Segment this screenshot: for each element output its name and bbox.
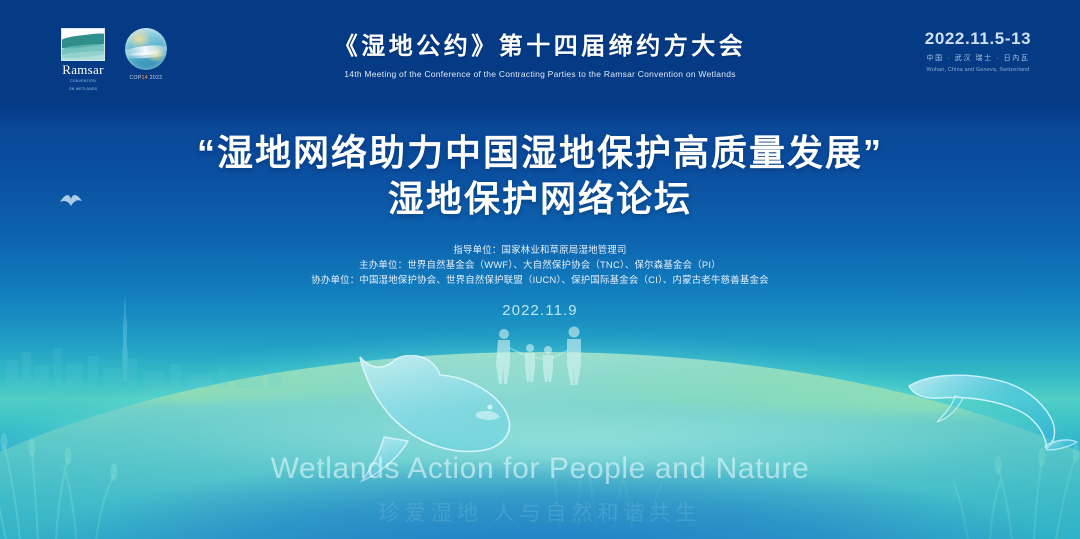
conference-date-range: 2022.11.5-13 bbox=[898, 30, 1058, 47]
tagline-chinese: 珍爱湿地 人与自然和谐共生 bbox=[0, 497, 1080, 527]
ramsar-logo: Ramsar CONVENTION ON WETLANDS bbox=[60, 28, 106, 93]
cop-caption-suffix: 2022 bbox=[148, 75, 163, 81]
conference-location-cn: 中国 · 武汉 瑞士 · 日内瓦 bbox=[898, 53, 1058, 63]
cop-caption-prefix: COP bbox=[130, 75, 142, 81]
forum-title-line-2: 湿地保护网络论坛 bbox=[0, 176, 1080, 222]
organizer-line-coorganizer: 协办单位：中国湿地保护协会、世界自然保护联盟（IUCN）、保护国际基金会（CI）… bbox=[0, 272, 1080, 287]
ramsar-wave-icon bbox=[61, 28, 105, 61]
event-date: 2022.11.9 bbox=[0, 302, 1080, 319]
city-skyline bbox=[0, 330, 300, 388]
conference-location-en: Wuhan, China and Geneva, Switzerland bbox=[898, 67, 1058, 73]
ramsar-logo-subtitle-2: ON WETLANDS bbox=[69, 87, 98, 92]
globe-icon bbox=[125, 28, 167, 70]
tagline-english: Wetlands Action for People and Nature bbox=[0, 452, 1080, 486]
forum-title-line-1: “湿地网络助力中国湿地保护高质量发展” bbox=[0, 130, 1080, 176]
whale-silhouette-right bbox=[905, 362, 1080, 458]
organizer-block: 指导单位：国家林业和草原局湿地管理司 主办单位：世界自然基金会（WWF）、大自然… bbox=[0, 242, 1080, 288]
forum-title-block: “湿地网络助力中国湿地保护高质量发展” 湿地保护网络论坛 bbox=[0, 130, 1080, 222]
logo-group: Ramsar CONVENTION ON WETLANDS COP14 2022 bbox=[60, 28, 172, 93]
conference-poster: Ramsar CONVENTION ON WETLANDS COP14 2022… bbox=[0, 0, 1080, 539]
ramsar-logo-text: Ramsar bbox=[62, 63, 104, 76]
ramsar-logo-subtitle-1: CONVENTION bbox=[70, 79, 96, 84]
conference-date-block: 2022.11.5-13 中国 · 武汉 瑞士 · 日内瓦 Wuhan, Chi… bbox=[898, 30, 1058, 73]
organizer-line-guidance: 指导单位：国家林业和草原局湿地管理司 bbox=[0, 242, 1080, 257]
cop14-logo: COP14 2022 bbox=[120, 28, 172, 81]
organizer-line-host: 主办单位：世界自然基金会（WWF）、大自然保护协会（TNC）、保尔森基金会（PI… bbox=[0, 257, 1080, 272]
cop14-logo-caption: COP14 2022 bbox=[130, 75, 163, 81]
